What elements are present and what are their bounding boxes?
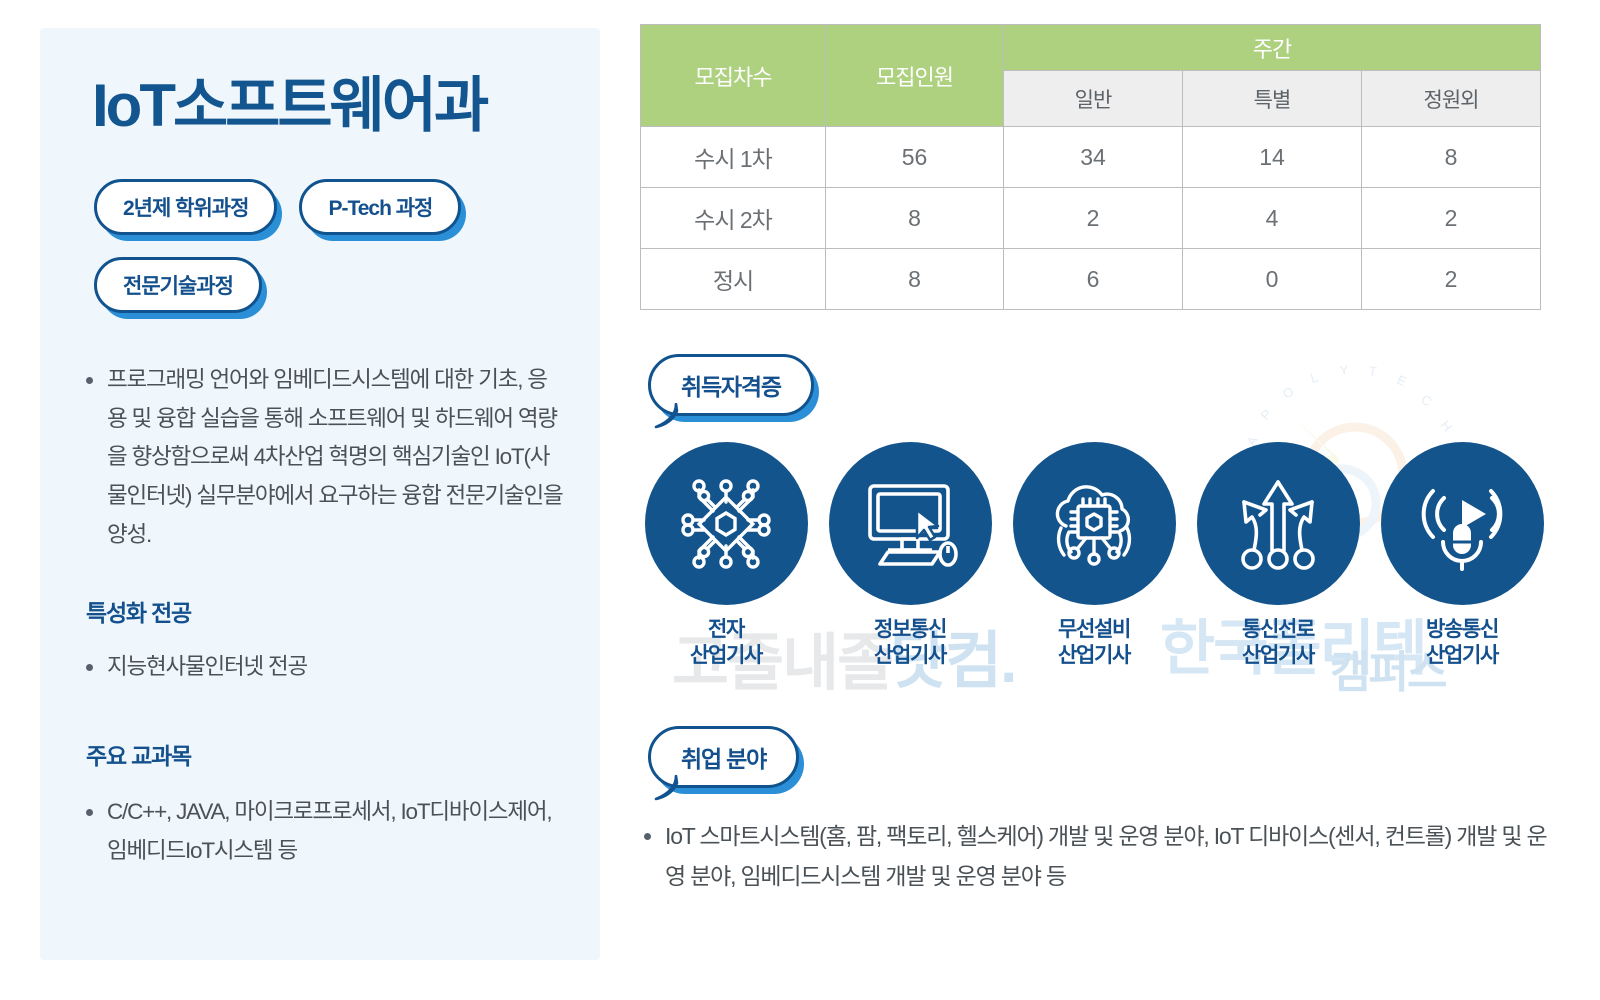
badge-degree-program[interactable]: 2년제 학위과정 (94, 179, 277, 235)
bullet-dot-icon (644, 833, 651, 840)
courses-item-text: C/C++, JAVA, 마이크로프로세서, IoT디바이스제어, 임베디드Io… (107, 793, 570, 870)
certification-item-broadcast[interactable]: 방송통신 산업기사 (1380, 442, 1544, 668)
row-label: 정시 (641, 249, 826, 310)
cell-general: 34 (1004, 127, 1183, 188)
badge-row-primary: 2년제 학위과정 P-Tech 과정 (94, 179, 570, 235)
list-item: 지능현사물인터넷 전공 (86, 648, 570, 687)
cell-special: 4 (1183, 188, 1362, 249)
employment-tag-wrapper: 취업 분야 (648, 726, 799, 788)
certifications-tag-wrapper: 취득자격증 (648, 354, 814, 416)
list-item: C/C++, JAVA, 마이크로프로세서, IoT디바이스제어, 임베디드Io… (86, 793, 570, 870)
intro-description-text: 프로그래밍 언어와 임베디드시스템에 대한 기초, 응용 및 융합 실습을 통해… (107, 361, 566, 554)
intro-description-list: 프로그래밍 언어와 임베디드시스템에 대한 기초, 응용 및 융합 실습을 통해… (86, 361, 570, 554)
employment-description-list: IoT 스마트시스템(홈, 팜, 팩토리, 헬스케어) 개발 및 운영 분야, … (644, 816, 1550, 896)
row-label: 수시 1차 (641, 127, 826, 188)
cell-special: 14 (1183, 127, 1362, 188)
cell-general: 6 (1004, 249, 1183, 310)
major-item-text: 지능현사물인터넷 전공 (107, 648, 570, 687)
recruitment-table: 모집차수 모집인원 주간 일반 특별 정원외 수시 1차 56 34 14 8 … (640, 24, 1541, 310)
speech-bubble-tail-icon (654, 775, 680, 801)
badge-technical-program[interactable]: 전문기술과정 (94, 257, 262, 313)
speech-bubble-tail-icon (654, 403, 680, 429)
employment-description-text: IoT 스마트시스템(홈, 팜, 팩토리, 헬스케어) 개발 및 운영 분야, … (665, 816, 1550, 896)
bullet-dot-icon (86, 664, 93, 671)
cell-extra: 2 (1362, 249, 1541, 310)
circuit-chip-icon (645, 442, 808, 605)
cell-total: 8 (826, 188, 1004, 249)
certification-label: 전자 산업기사 (690, 617, 762, 668)
three-arrows-up-icon (1197, 442, 1360, 605)
certification-label: 정보통신 산업기사 (874, 617, 946, 668)
row-label: 수시 2차 (641, 188, 826, 249)
section-heading-major: 특성화 전공 (86, 594, 570, 628)
certification-item-wireless[interactable]: 무선설비 산업기사 (1012, 442, 1176, 668)
table-header-quota: 모집인원 (826, 25, 1004, 127)
list-item: IoT 스마트시스템(홈, 팜, 팩토리, 헬스케어) 개발 및 운영 분야, … (644, 816, 1550, 896)
table-header-round: 모집차수 (641, 25, 826, 127)
certification-item-info-comm[interactable]: 정보통신 산업기사 (828, 442, 992, 668)
courses-list: C/C++, JAVA, 마이크로프로세서, IoT디바이스제어, 임베디드Io… (86, 793, 570, 870)
certification-label: 방송통신 산업기사 (1426, 617, 1498, 668)
table-header-daytime-group: 주간 (1004, 25, 1541, 71)
cell-general: 2 (1004, 188, 1183, 249)
section-heading-courses: 주요 교과목 (86, 737, 570, 771)
table-header-extra: 정원외 (1362, 71, 1541, 127)
right-content-column: 모집차수 모집인원 주간 일반 특별 정원외 수시 1차 56 34 14 8 … (640, 24, 1550, 896)
cloud-chip-wireless-icon (1013, 442, 1176, 605)
cell-extra: 8 (1362, 127, 1541, 188)
certification-label: 통신선로 산업기사 (1242, 617, 1314, 668)
desktop-computer-icon (829, 442, 992, 605)
certification-label: 무선설비 산업기사 (1058, 617, 1130, 668)
badge-row-secondary: 전문기술과정 (94, 257, 570, 313)
table-header-general: 일반 (1004, 71, 1183, 127)
major-list: 지능현사물인터넷 전공 (86, 648, 570, 687)
bullet-dot-icon (86, 809, 93, 816)
cell-total: 8 (826, 249, 1004, 310)
table-header-special: 특별 (1183, 71, 1362, 127)
cell-total: 56 (826, 127, 1004, 188)
table-row: 정시 8 6 0 2 (641, 249, 1541, 310)
badge-ptech-program[interactable]: P-Tech 과정 (299, 179, 461, 235)
table-header-row-1: 모집차수 모집인원 주간 (641, 25, 1541, 71)
microphone-broadcast-icon (1381, 442, 1544, 605)
list-item: 프로그래밍 언어와 임베디드시스템에 대한 기초, 응용 및 융합 실습을 통해… (86, 361, 566, 554)
table-row: 수시 1차 56 34 14 8 (641, 127, 1541, 188)
certification-item-comm-line[interactable]: 통신선로 산업기사 (1196, 442, 1360, 668)
certification-icons-row: 전자 산업기사 정보통신 산업기사 (644, 442, 1550, 668)
certification-item-electronics[interactable]: 전자 산업기사 (644, 442, 808, 668)
table-row: 수시 2차 8 2 4 2 (641, 188, 1541, 249)
cell-extra: 2 (1362, 188, 1541, 249)
page-title: IoT소프트웨어과 (92, 74, 570, 137)
department-info-panel: IoT소프트웨어과 2년제 학위과정 P-Tech 과정 전문기술과정 프로그래… (40, 28, 600, 960)
bullet-dot-icon (86, 377, 93, 384)
cell-special: 0 (1183, 249, 1362, 310)
